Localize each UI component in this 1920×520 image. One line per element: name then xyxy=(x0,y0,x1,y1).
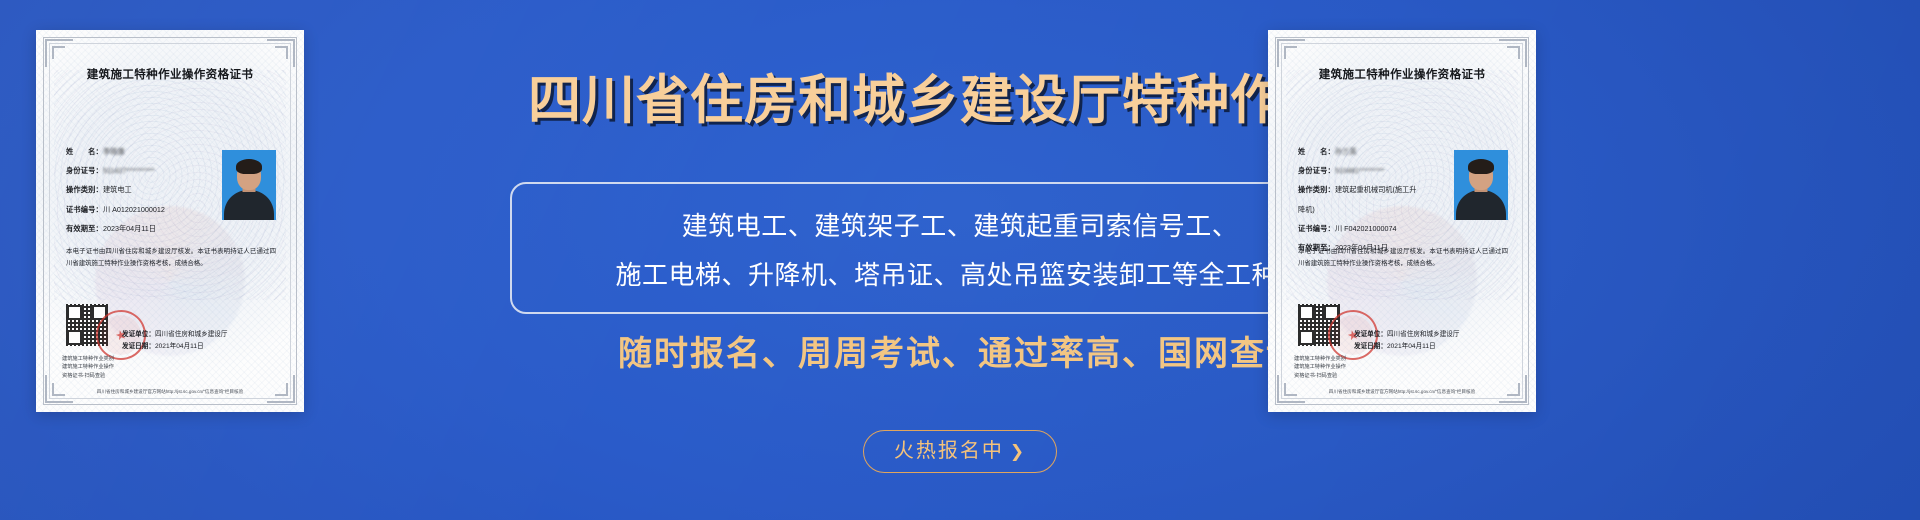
field-name-label: 姓 名： xyxy=(66,147,103,156)
certificate-bottom-notes: 建筑施工特种作业类别 建筑施工特种作业操作 资格证书·扫码查验 xyxy=(1294,355,1514,380)
field-certificate-number-label: 证书编号： xyxy=(1298,224,1335,233)
cta-container: 火热报名中❯ xyxy=(0,430,1920,473)
bottom-note-3: 资格证书·扫码查验 xyxy=(62,372,282,380)
certificate-paragraph: 本电子证书由四川省住房和城乡建设厅核发。本证书表明持证人已通过四川省建筑施工特种… xyxy=(1298,246,1508,270)
certificate-paragraph: 本电子证书由四川省住房和城乡建设厅核发。本证书表明持证人已通过四川省建筑施工特种… xyxy=(66,246,276,270)
certificate-card-right: 建筑施工特种作业操作资格证书 姓 名：孙兰英 身份证号：510481******… xyxy=(1268,30,1536,412)
certificate-footnote: 四川省住房和城乡建设厅官方网站http://jst.sc.gov.cn/“信息查… xyxy=(1290,389,1514,395)
field-name-label: 姓 名： xyxy=(1298,147,1335,156)
enroll-now-button[interactable]: 火热报名中❯ xyxy=(863,430,1057,473)
field-id-number: 身份证号：510481********* xyxy=(1298,167,1448,174)
field-name: 姓 名：李晓康 xyxy=(66,148,216,155)
corner-ornament-top-right xyxy=(1499,39,1527,67)
field-id-number-value: 511427********** xyxy=(103,166,154,175)
certificate-photo xyxy=(1454,150,1508,220)
qr-finder-bottom-left xyxy=(1299,330,1314,345)
photo-torso xyxy=(224,190,274,220)
field-certificate-number-label: 证书编号： xyxy=(66,205,103,214)
promo-banner: 建筑施工特种作业操作资格证书 姓 名：李晓康 身份证号：511427******… xyxy=(0,0,1920,520)
field-name-value: 孙兰英 xyxy=(1335,147,1357,156)
issuer-value: 四川省住房和城乡建设厅 xyxy=(1387,331,1460,338)
photo-hair xyxy=(1468,159,1494,174)
certificate-photo xyxy=(222,150,276,220)
certificate-footnote: 四川省住房和城乡建设厅官方网站http://jst.sc.gov.cn/“信息查… xyxy=(58,389,282,395)
field-operation-type-value: 建筑电工 xyxy=(103,185,132,194)
field-id-number-label: 身份证号： xyxy=(66,166,103,175)
field-valid-until-label: 有效期至： xyxy=(66,224,103,233)
field-operation-type-value: 建筑起重机械司机(施工升 xyxy=(1335,185,1416,194)
field-id-number: 身份证号：511427********** xyxy=(66,167,216,174)
bottom-note-2: 建筑施工特种作业操作 xyxy=(1294,363,1514,371)
field-certificate-number: 证书编号：川 A012021000012 xyxy=(66,206,216,213)
bottom-note-3: 资格证书·扫码查验 xyxy=(1294,372,1514,380)
field-id-number-label: 身份证号： xyxy=(1298,166,1335,175)
photo-hair xyxy=(236,159,262,174)
field-id-number-value: 510481********* xyxy=(1335,166,1384,175)
field-valid-until-value: 2023年04月11日 xyxy=(103,224,156,233)
bottom-note-1: 建筑施工特种作业类别 xyxy=(1294,355,1514,363)
page-title: 四川省住房和城乡建设厅特种作业证 xyxy=(0,74,1920,127)
photo-torso xyxy=(1456,190,1506,220)
corner-ornament-top-left xyxy=(45,39,73,67)
certificate-title: 建筑施工特种作业操作资格证书 xyxy=(1268,66,1536,82)
field-operation-type-cont: 降机) xyxy=(1298,206,1448,213)
chevron-right-icon: ❯ xyxy=(1010,442,1026,461)
issuer-label: 发证单位： xyxy=(1354,331,1387,338)
issuer-row: 发证单位：四川省住房和城乡建设厅 xyxy=(1354,329,1504,342)
field-operation-type-label: 操作类别： xyxy=(66,185,103,194)
issue-date-value: 2021年04月11日 xyxy=(1387,343,1436,350)
benefits-line: 随时报名、周周考试、通过率高、国网查询 xyxy=(0,337,1920,371)
certificate-fields: 姓 名：李晓康 身份证号：511427********** 操作类别：建筑电工 … xyxy=(66,148,216,244)
field-name-value: 李晓康 xyxy=(103,147,125,156)
field-certificate-number-value: 川 A012021000012 xyxy=(103,205,165,214)
enroll-now-button-label: 火热报名中 xyxy=(894,440,1004,462)
field-name: 姓 名：孙兰英 xyxy=(1298,148,1448,155)
field-operation-type-label: 操作类别： xyxy=(1298,185,1335,194)
certificate-issuer-block: 发证单位：四川省住房和城乡建设厅 发证日期：2021年04月11日 xyxy=(1354,329,1504,354)
field-operation-type: 操作类别：建筑电工 xyxy=(66,186,216,193)
field-certificate-number-value: 川 F042021000074 xyxy=(1335,224,1397,233)
issue-date-row: 发证日期：2021年04月11日 xyxy=(1354,341,1504,354)
field-certificate-number: 证书编号：川 F042021000074 xyxy=(1298,225,1448,232)
field-operation-type-cont-value: 降机) xyxy=(1298,205,1315,214)
corner-ornament-top-left xyxy=(1277,39,1305,67)
corner-ornament-top-right xyxy=(267,39,295,67)
field-valid-until: 有效期至：2023年04月11日 xyxy=(66,225,216,232)
field-operation-type: 操作类别：建筑起重机械司机(施工升 xyxy=(1298,186,1448,193)
issue-date-label: 发证日期： xyxy=(1354,343,1387,350)
